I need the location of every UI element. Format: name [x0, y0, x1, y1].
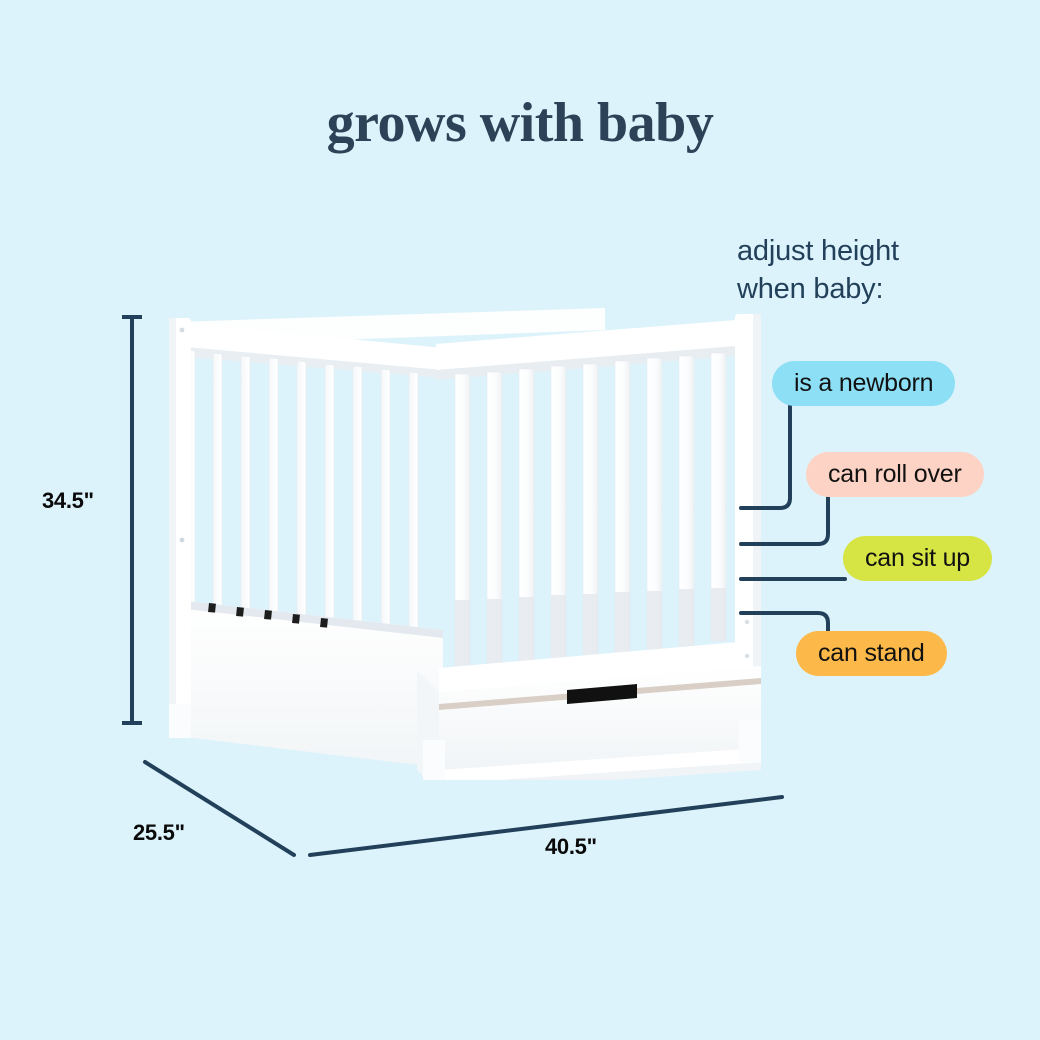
dimension-label-width: 40.5"	[545, 834, 597, 860]
dimension-label-depth: 25.5"	[133, 820, 185, 846]
stage-pill-stand[interactable]: can stand	[796, 631, 947, 676]
stage-pill-roll-over-label: can roll over	[828, 460, 962, 489]
stage-pill-stand-label: can stand	[818, 639, 925, 668]
crib-product-illustration	[155, 300, 775, 780]
stage-pill-newborn-label: is a newborn	[794, 369, 933, 398]
stage-pill-sit-up[interactable]: can sit up	[843, 536, 992, 581]
headline-line-2: when baby:	[737, 270, 1027, 308]
stage-pill-roll-over[interactable]: can roll over	[806, 452, 984, 497]
headline-line-1: adjust height	[737, 232, 1027, 270]
adjust-height-headline: adjust height when baby:	[737, 232, 1027, 308]
stage-pill-sit-up-label: can sit up	[865, 544, 970, 573]
page-title: grows with baby	[0, 95, 1040, 151]
infographic-canvas: grows with baby	[0, 0, 1040, 1040]
dimension-label-height: 34.5"	[42, 488, 94, 514]
stage-pill-newborn[interactable]: is a newborn	[772, 361, 955, 406]
